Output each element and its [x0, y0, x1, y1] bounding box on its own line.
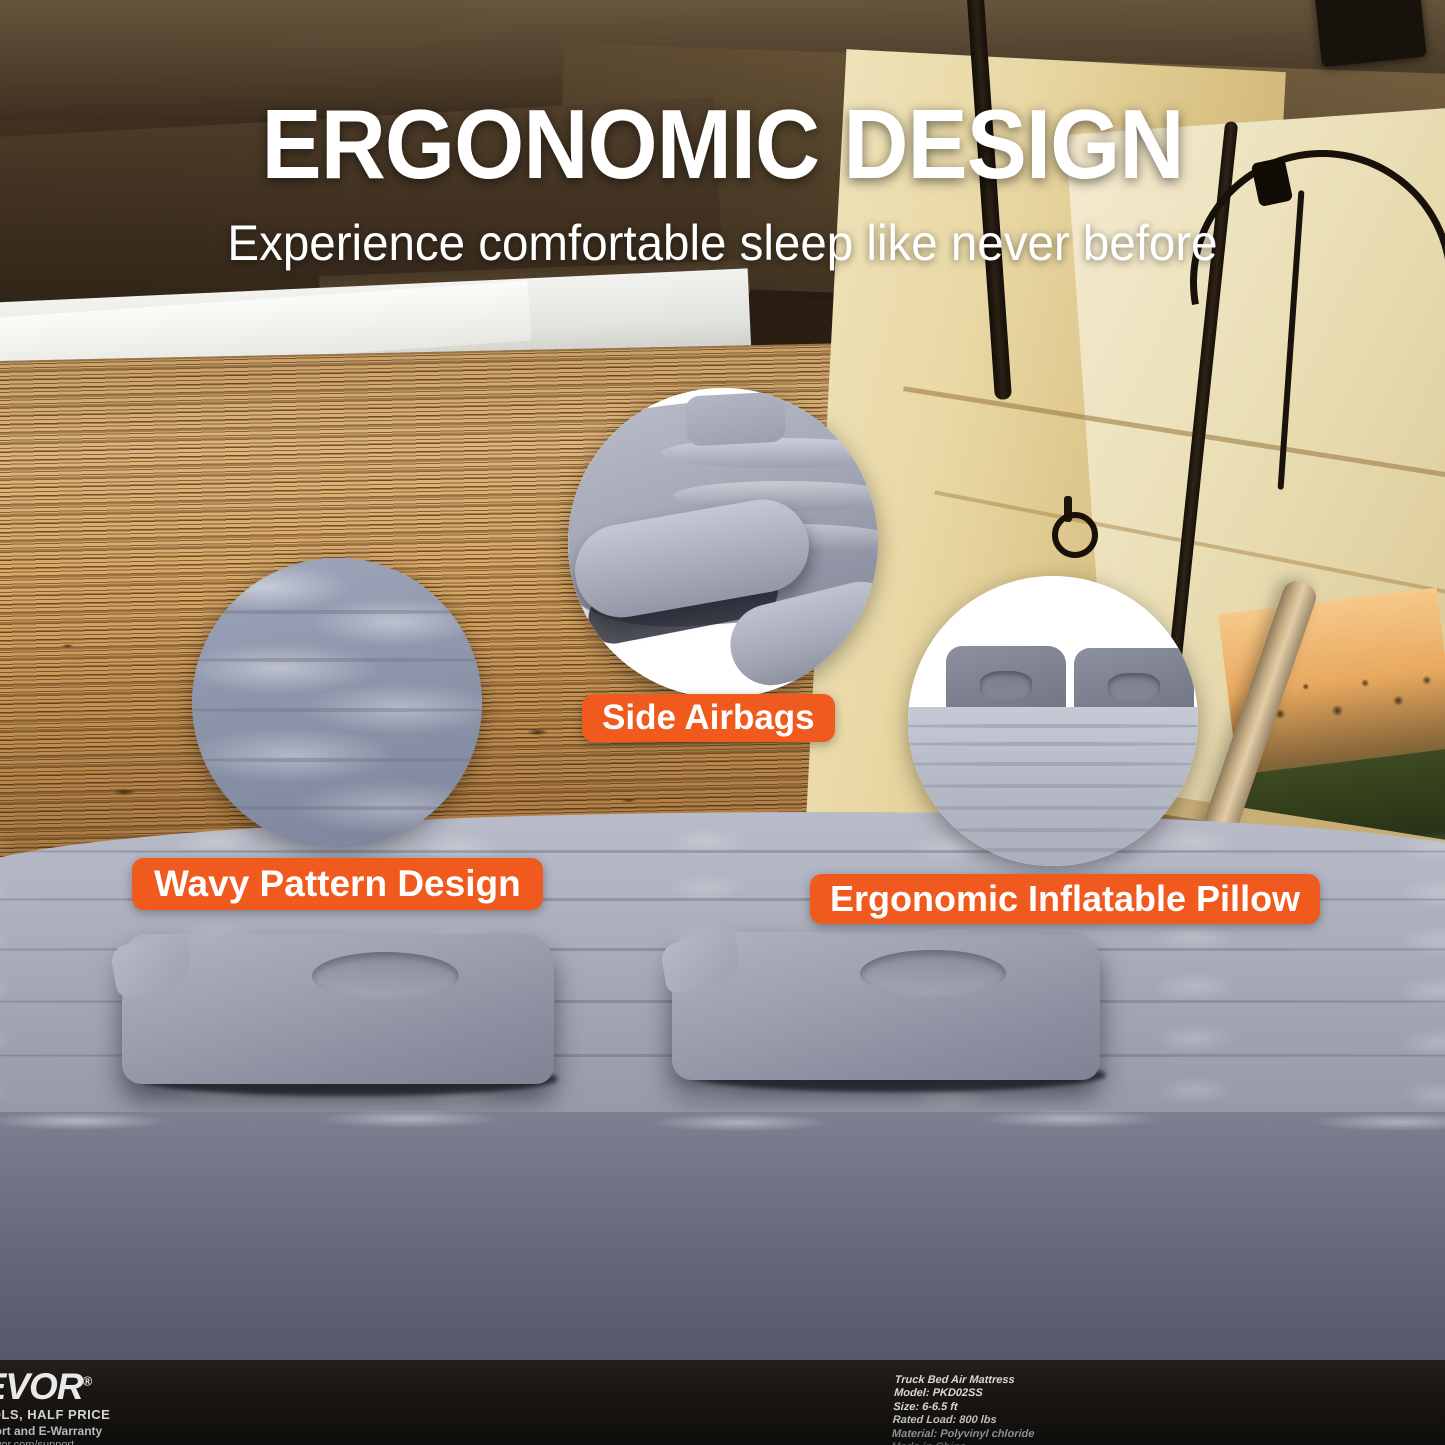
page-subtitle: Experience comfortable sleep like never …	[36, 214, 1409, 272]
vevor-logo-text: VEVOR	[0, 1366, 83, 1407]
badge-wavy-pattern-design[interactable]: Wavy Pattern Design	[132, 858, 543, 910]
vevor-logo: VEVOR®	[0, 1368, 110, 1405]
mattress-pillow-left	[122, 934, 554, 1084]
inset-ergonomic-pillow	[908, 576, 1198, 866]
tent-dark-patch	[1314, 0, 1426, 67]
mattress-front-ridge	[0, 1108, 1445, 1134]
product-spec-block: Truck Bed Air Mattress Model: PKD02SS Si…	[891, 1374, 1038, 1445]
badge-side-airbags[interactable]: Side Airbags	[582, 694, 835, 742]
product-label-strip: VEVOR® H TOOLS, HALF PRICE l Support and…	[0, 1360, 1445, 1445]
inset-side-airbags	[568, 388, 878, 698]
product-rated-load: Rated Load: 800 lbs	[892, 1414, 1035, 1427]
product-marketing-image: ERGONOMIC DESIGN Experience comfortable …	[0, 0, 1445, 1445]
vevor-branding: VEVOR® H TOOLS, HALF PRICE l Support and…	[0, 1368, 110, 1445]
mattress-front-panel	[0, 1112, 1445, 1372]
product-name: Truck Bed Air Mattress	[894, 1374, 1037, 1387]
tent-hang-ring	[1052, 512, 1098, 558]
vevor-support-line: l Support and E-Warranty	[0, 1424, 110, 1438]
mattress-pillow-right	[672, 932, 1100, 1080]
product-material: Material: Polyvinyl chloride	[892, 1428, 1035, 1441]
inset-wavy-pattern	[192, 558, 482, 848]
product-model: Model: PKD02SS	[894, 1387, 1037, 1400]
registered-trademark-icon: ®	[83, 1374, 92, 1389]
page-title: ERGONOMIC DESIGN	[58, 95, 1387, 193]
product-origin: Made in China	[891, 1441, 1034, 1445]
vevor-tagline: H TOOLS, HALF PRICE	[0, 1407, 110, 1422]
product-size: Size: 6-6.5 ft	[893, 1401, 1036, 1414]
vevor-website: www.vevor.com/support	[0, 1439, 110, 1445]
badge-ergonomic-inflatable-pillow[interactable]: Ergonomic Inflatable Pillow	[810, 874, 1320, 924]
